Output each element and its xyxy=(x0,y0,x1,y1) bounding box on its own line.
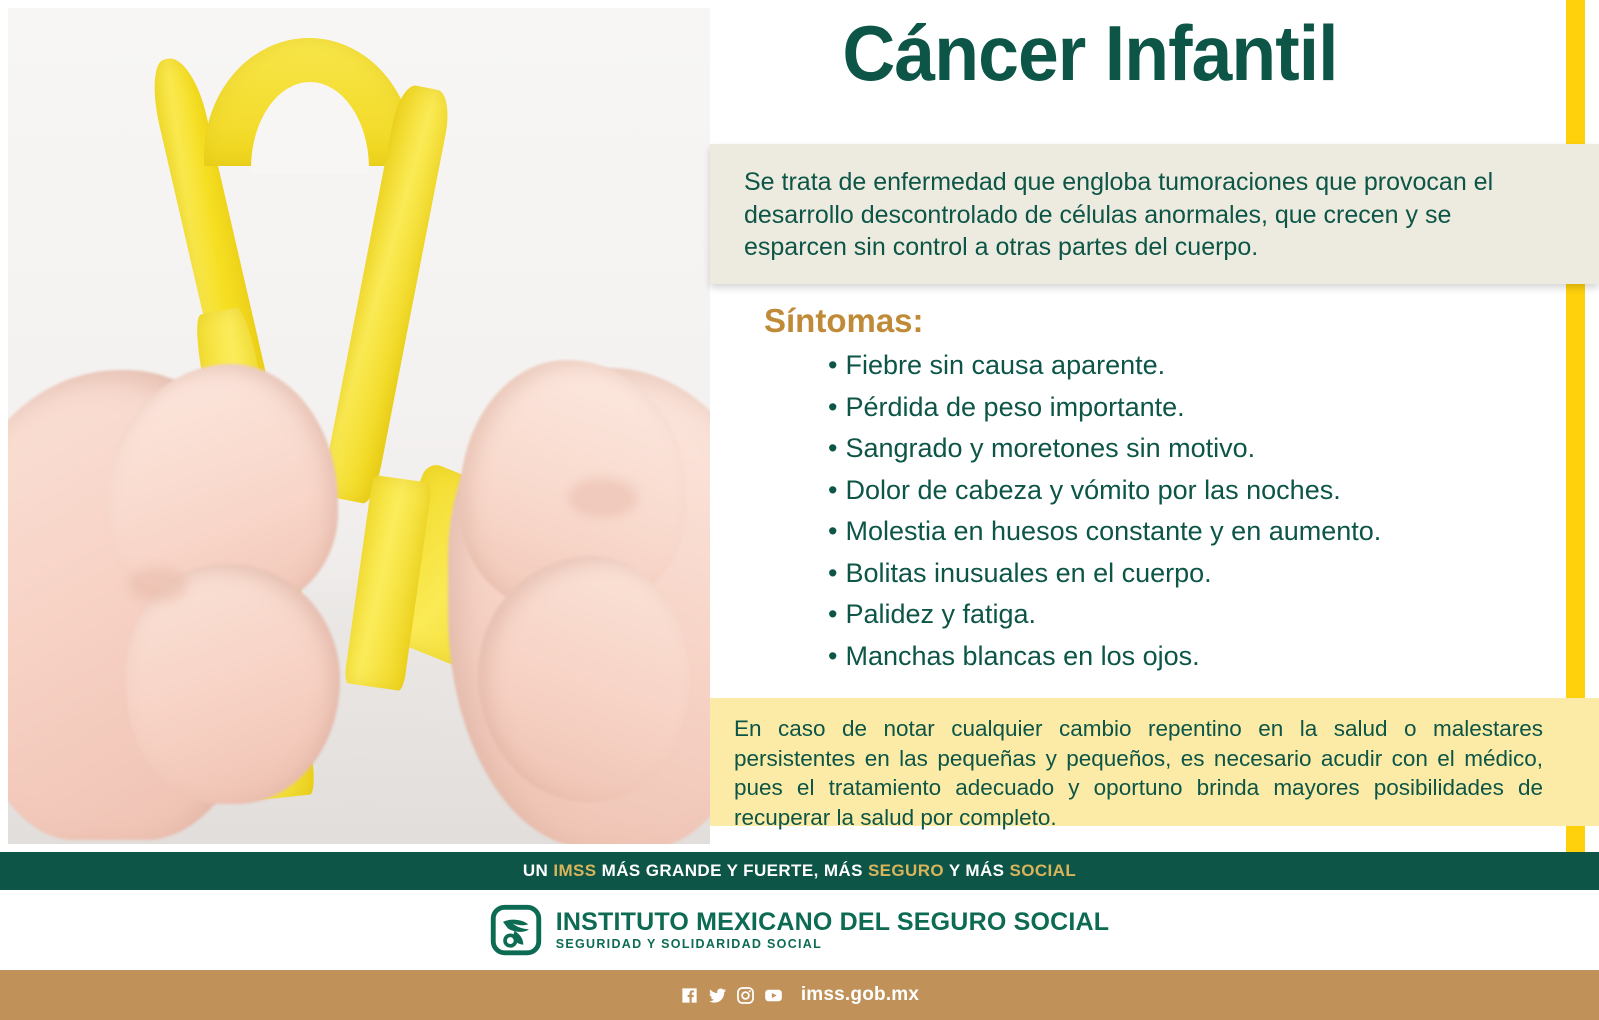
symptom-label: Fiebre sin causa aparente. xyxy=(845,350,1165,380)
symptom-label: Bolitas inusuales en el cuerpo. xyxy=(845,558,1211,588)
symptom-label: Palidez y fatiga. xyxy=(845,599,1036,629)
content-column: Cáncer Infantil Se trata de enfermedad q… xyxy=(710,0,1599,852)
symptom-item: •Pérdida de peso importante. xyxy=(828,394,1568,421)
symptom-label: Manchas blancas en los ojos. xyxy=(845,641,1199,671)
symptoms-heading: Síntomas: xyxy=(764,302,924,340)
poster-canvas: Cáncer Infantil Se trata de enfermedad q… xyxy=(0,0,1599,1020)
symptom-label: Sangrado y moretones sin motivo. xyxy=(845,433,1255,463)
imss-logo-icon xyxy=(490,904,542,956)
slogan-bar: UN IMSS MÁS GRANDE Y FUERTE, MÁS SEGURO … xyxy=(0,852,1599,890)
slogan-part: Y MÁS xyxy=(944,861,1009,880)
twitter-link[interactable] xyxy=(708,986,727,1005)
bullet-icon: • xyxy=(828,518,837,545)
right-hand-middle-finger xyxy=(478,556,690,802)
symptom-label: Dolor de cabeza y vómito por las noches. xyxy=(845,475,1340,505)
symptoms-list: •Fiebre sin causa aparente.•Pérdida de p… xyxy=(828,352,1568,684)
symptom-item: •Manchas blancas en los ojos. xyxy=(828,643,1568,670)
description-box: Se trata de enfermedad que engloba tumor… xyxy=(710,144,1599,284)
ribbon-photo xyxy=(8,8,710,844)
symptom-label: Pérdida de peso importante. xyxy=(845,392,1184,422)
bullet-icon: • xyxy=(828,477,837,504)
symptom-item: •Dolor de cabeza y vómito por las noches… xyxy=(828,477,1568,504)
symptom-label: Molestia en huesos constante y en aument… xyxy=(845,516,1381,546)
institution-bar: INSTITUTO MEXICANO DEL SEGURO SOCIAL SEG… xyxy=(0,890,1599,970)
bullet-icon: • xyxy=(828,643,837,670)
facebook-icon[interactable] xyxy=(680,986,699,1005)
institution-tagline: SEGURIDAD Y SOLIDARIDAD SOCIAL xyxy=(556,938,1110,951)
youtube-link[interactable] xyxy=(764,986,783,1005)
bullet-icon: • xyxy=(828,560,837,587)
left-hand-knuckle xyxy=(128,568,188,602)
slogan-part: SOCIAL xyxy=(1010,861,1077,880)
right-hand-knuckle xyxy=(568,478,638,518)
website-url[interactable]: imss.gob.mx xyxy=(801,984,919,1006)
social-bar: imss.gob.mx xyxy=(0,970,1599,1020)
twitter-icon[interactable] xyxy=(708,986,727,1005)
instagram-icon[interactable] xyxy=(736,986,755,1005)
slogan-part: MÁS GRANDE Y FUERTE, MÁS xyxy=(597,861,868,880)
recommendation-box: En caso de notar cualquier cambio repent… xyxy=(710,698,1599,826)
slogan-part: UN xyxy=(523,861,553,880)
symptom-item: •Fiebre sin causa aparente. xyxy=(828,352,1568,379)
description-text: Se trata de enfermedad que engloba tumor… xyxy=(744,166,1543,264)
symptom-item: •Palidez y fatiga. xyxy=(828,601,1568,628)
facebook-link[interactable] xyxy=(680,986,699,1005)
bullet-icon: • xyxy=(828,601,837,628)
symptom-item: •Bolitas inusuales en el cuerpo. xyxy=(828,560,1568,587)
institution-name: INSTITUTO MEXICANO DEL SEGURO SOCIAL xyxy=(556,909,1110,935)
instagram-link[interactable] xyxy=(736,986,755,1005)
symptom-item: •Molestia en huesos constante y en aumen… xyxy=(828,518,1568,545)
bullet-icon: • xyxy=(828,435,837,462)
youtube-icon[interactable] xyxy=(764,986,783,1005)
slogan-part: SEGURO xyxy=(868,861,944,880)
slogan-text: UN IMSS MÁS GRANDE Y FUERTE, MÁS SEGURO … xyxy=(523,861,1076,881)
bullet-icon: • xyxy=(828,394,837,421)
recommendation-text: En caso de notar cualquier cambio repent… xyxy=(734,714,1543,833)
slogan-part: IMSS xyxy=(553,861,596,880)
symptom-item: •Sangrado y moretones sin motivo. xyxy=(828,435,1568,462)
page-title: Cáncer Infantil xyxy=(733,14,1447,94)
institution-text-block: INSTITUTO MEXICANO DEL SEGURO SOCIAL SEG… xyxy=(556,909,1110,950)
bullet-icon: • xyxy=(828,352,837,379)
